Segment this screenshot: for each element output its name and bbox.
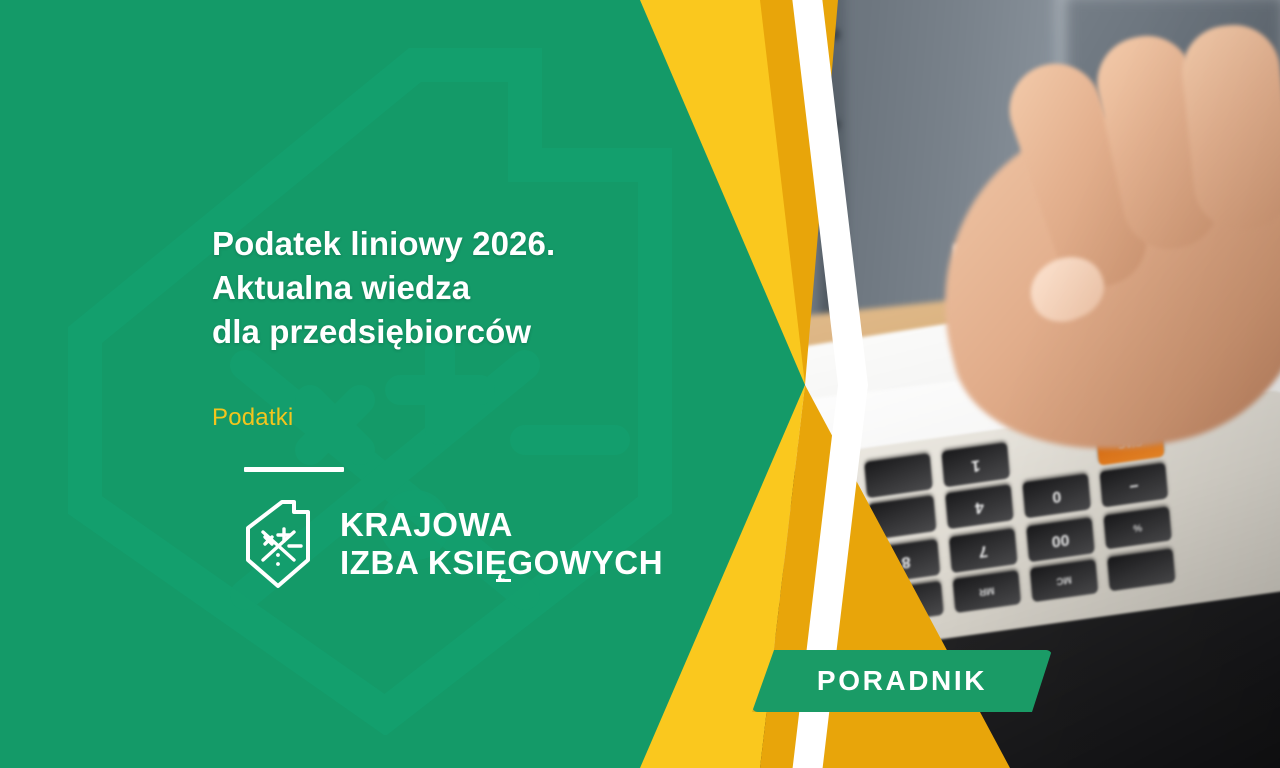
promo-banner: MU + × − M+ 6 9 3 M− 8 MR 7 4 1 MC 00 0 … [0,0,1280,768]
brand-name-line-1: KRAJOWA [340,506,663,544]
page-title: Podatek liniowy 2026. Aktualna wiedza dl… [212,222,682,354]
shield-calculator-icon [244,498,322,590]
poradnik-badge-label: PORADNIK [752,650,1056,712]
brand-name-line-2a: IZBA KSI [340,544,485,581]
brand-name-ogonek: Ę [485,544,508,581]
brand-name-line-2c: GOWYCH [507,544,663,581]
brand-logo[interactable]: KRAJOWA IZBA KSIĘGOWYCH [244,498,663,590]
content-block: Podatek liniowy 2026. Aktualna wiedza dl… [212,0,732,768]
headline-line-1: Podatek liniowy 2026. [212,222,682,266]
headline-line-2: Aktualna wiedza [212,266,682,310]
headline-line-3: dla przedsiębiorców [212,310,682,354]
brand-name-line-2: IZBA KSIĘGOWYCH [340,544,663,582]
category-label[interactable]: Podatki [212,404,293,432]
divider [244,467,344,472]
poradnik-badge[interactable]: PORADNIK [752,650,1052,712]
brand-name: KRAJOWA IZBA KSIĘGOWYCH [340,506,663,582]
